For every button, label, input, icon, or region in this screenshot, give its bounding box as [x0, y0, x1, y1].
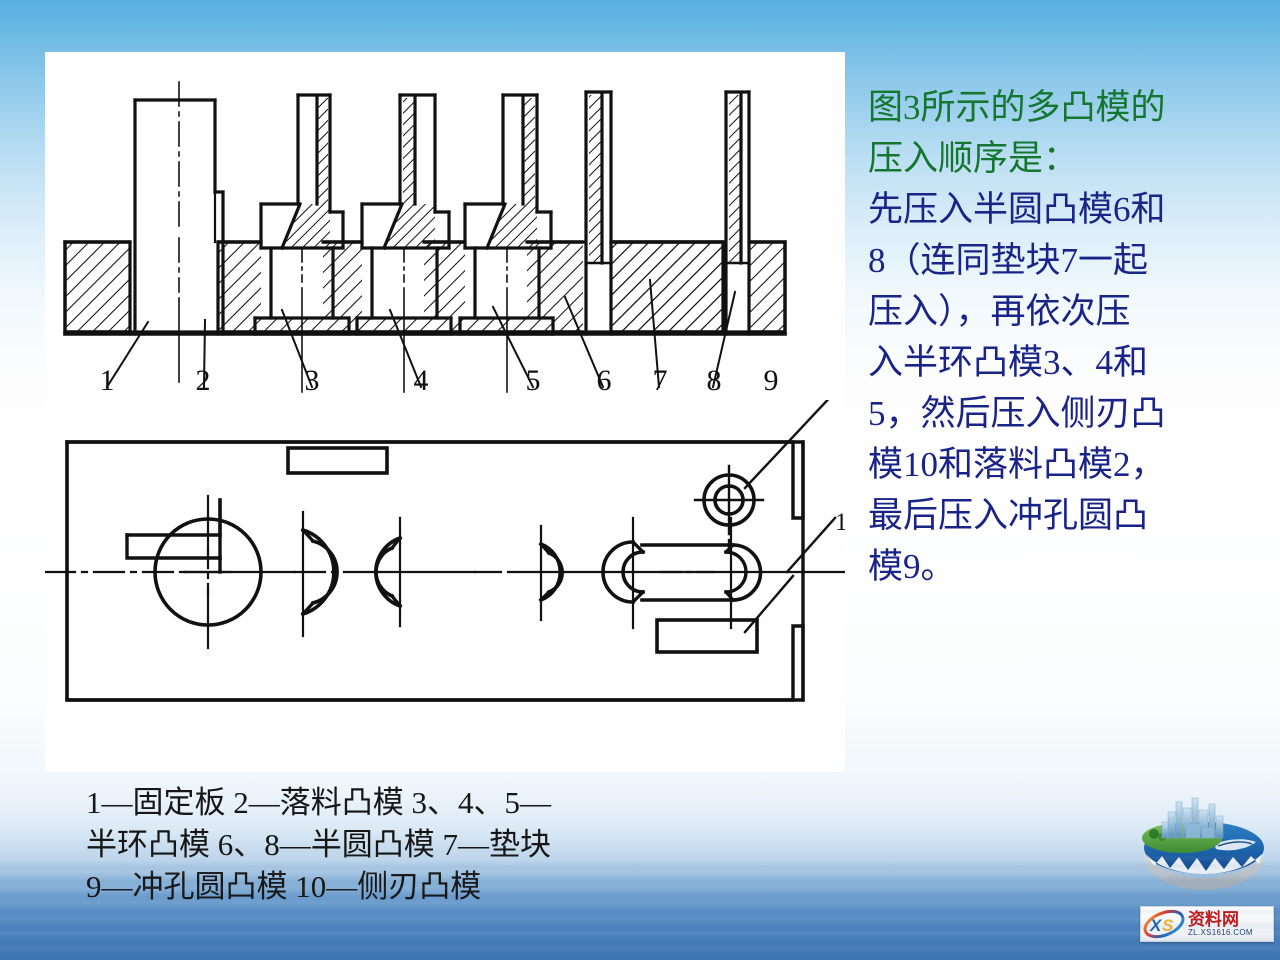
slide-canvas: 1 2 3 4 5 6 7 8 9	[0, 0, 1280, 960]
explanation-line-8: 模10和落料凸模2，	[868, 439, 1268, 490]
explanation-line-10: 模9。	[868, 541, 1268, 592]
explanation-text-block: 图3所示的多凸模的 压入顺序是： 先压入半圆凸模6和 8（连同垫块7一起 压入）…	[868, 82, 1268, 592]
caption-line-1: 1—固定板 2—落料凸模 3、4、5—	[86, 782, 806, 824]
explanation-line-4: 8（连同垫块7一起	[868, 235, 1268, 286]
watermark-badge: X S 资料网 ZL.XS1616.COM	[1140, 906, 1274, 942]
callout-label-6: 6	[597, 364, 612, 397]
xs-logo-icon: X S	[1141, 909, 1187, 939]
explanation-line-2: 压入顺序是：	[868, 133, 1268, 184]
svg-text:S: S	[1162, 916, 1174, 935]
figure-sectional-view: 1 2 3 4 5 6 7 8 9	[45, 52, 845, 397]
caption-line-2: 半环凸模 6、8—半圆凸模 7—垫块	[86, 824, 806, 866]
callout-label-4: 4	[414, 364, 429, 397]
globe-island-icon	[1138, 794, 1270, 894]
explanation-line-9: 最后压入冲孔圆凸	[868, 490, 1268, 541]
explanation-line-1: 图3所示的多凸模的	[868, 82, 1268, 133]
watermark-url: ZL.XS1616.COM	[1188, 928, 1273, 938]
svg-text:X: X	[1149, 916, 1163, 935]
callout-label-10: 10	[835, 509, 845, 536]
callout-label-5: 5	[526, 364, 541, 397]
figure-plan-view: 10	[45, 400, 845, 730]
watermark-logo: X S 资料网 ZL.XS1616.COM	[1136, 782, 1276, 958]
callout-label-7: 7	[653, 364, 668, 397]
explanation-line-6: 入半环凸模3、4和	[868, 337, 1268, 388]
callout-label-8: 8	[707, 364, 722, 397]
explanation-line-3: 先压入半圆凸模6和	[868, 184, 1268, 235]
watermark-site-name: 资料网	[1188, 911, 1273, 928]
explanation-line-5: 压入），再依次压	[868, 286, 1268, 337]
callout-label-2: 2	[196, 364, 211, 397]
callout-label-1: 1	[100, 364, 115, 397]
caption-line-3: 9—冲孔圆凸模 10—侧刃凸模	[86, 866, 806, 908]
figure-caption: 1—固定板 2—落料凸模 3、4、5— 半环凸模 6、8—半圆凸模 7—垫块 9…	[86, 782, 806, 908]
callout-label-3: 3	[305, 364, 320, 397]
callout-label-9: 9	[764, 364, 779, 397]
explanation-line-7: 5，然后压入侧刃凸	[868, 388, 1268, 439]
